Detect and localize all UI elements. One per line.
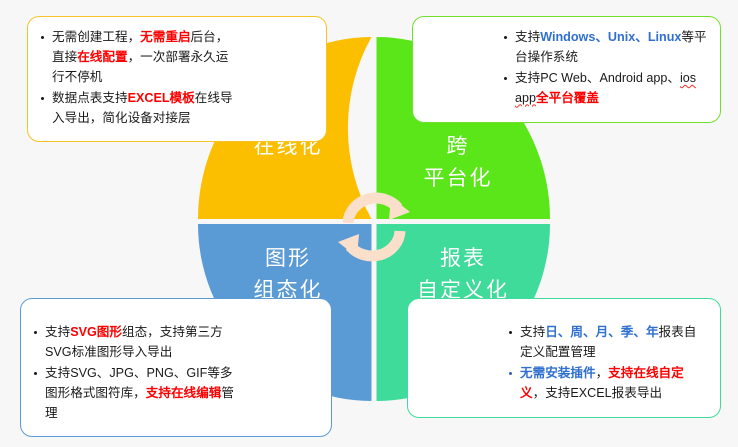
diagram-canvas: 在线化 跨 平台化 图形 组态化 报表 自定义化 无需创建工程，无需重启后台，直… [0, 0, 738, 447]
callout-cross-platform: 支持Windows、Unix、Linux等平台操作系统 支持PC Web、And… [412, 16, 721, 123]
callout-cross-platform-list: 支持Windows、Unix、Linux等平台操作系统 支持PC Web、And… [424, 28, 707, 109]
callout-report: 支持日、周、月、季、年报表自定义配置管理 无需安装插件，支持在线自定义，支持EX… [407, 298, 721, 418]
list-item: 无需安装插件，支持在线自定义，支持EXCEL报表导出 [507, 364, 707, 404]
callout-report-list: 支持日、周、月、季、年报表自定义配置管理 无需安装插件，支持在线自定义，支持EX… [419, 323, 707, 404]
list-item: 支持日、周、月、季、年报表自定义配置管理 [507, 323, 707, 363]
callout-online-list: 无需创建工程，无需重启后台，直接在线配置，一次部署永久运行不停机 数据点表支持E… [39, 28, 313, 128]
list-item: 数据点表支持EXCEL模板在线导入导出，简化设备对接层 [39, 89, 239, 129]
list-item: 无需创建工程，无需重启后台，直接在线配置，一次部署永久运行不停机 [39, 28, 239, 88]
callout-graphic-list: 支持SVG图形组态，支持第三方SVG标准图形导入导出 支持SVG、JPG、PNG… [32, 323, 318, 423]
list-item: 支持PC Web、Android app、ios app全平台覆盖 [502, 69, 707, 109]
callout-graphic: 支持SVG图形组态，支持第三方SVG标准图形导入导出 支持SVG、JPG、PNG… [20, 298, 332, 437]
callout-online: 无需创建工程，无需重启后台，直接在线配置，一次部署永久运行不停机 数据点表支持E… [27, 16, 327, 142]
list-item: 支持Windows、Unix、Linux等平台操作系统 [502, 28, 707, 68]
list-item: 支持SVG、JPG、PNG、GIF等多图形格式图符库，支持在线编辑管理 [32, 364, 238, 424]
list-item: 支持SVG图形组态，支持第三方SVG标准图形导入导出 [32, 323, 238, 363]
